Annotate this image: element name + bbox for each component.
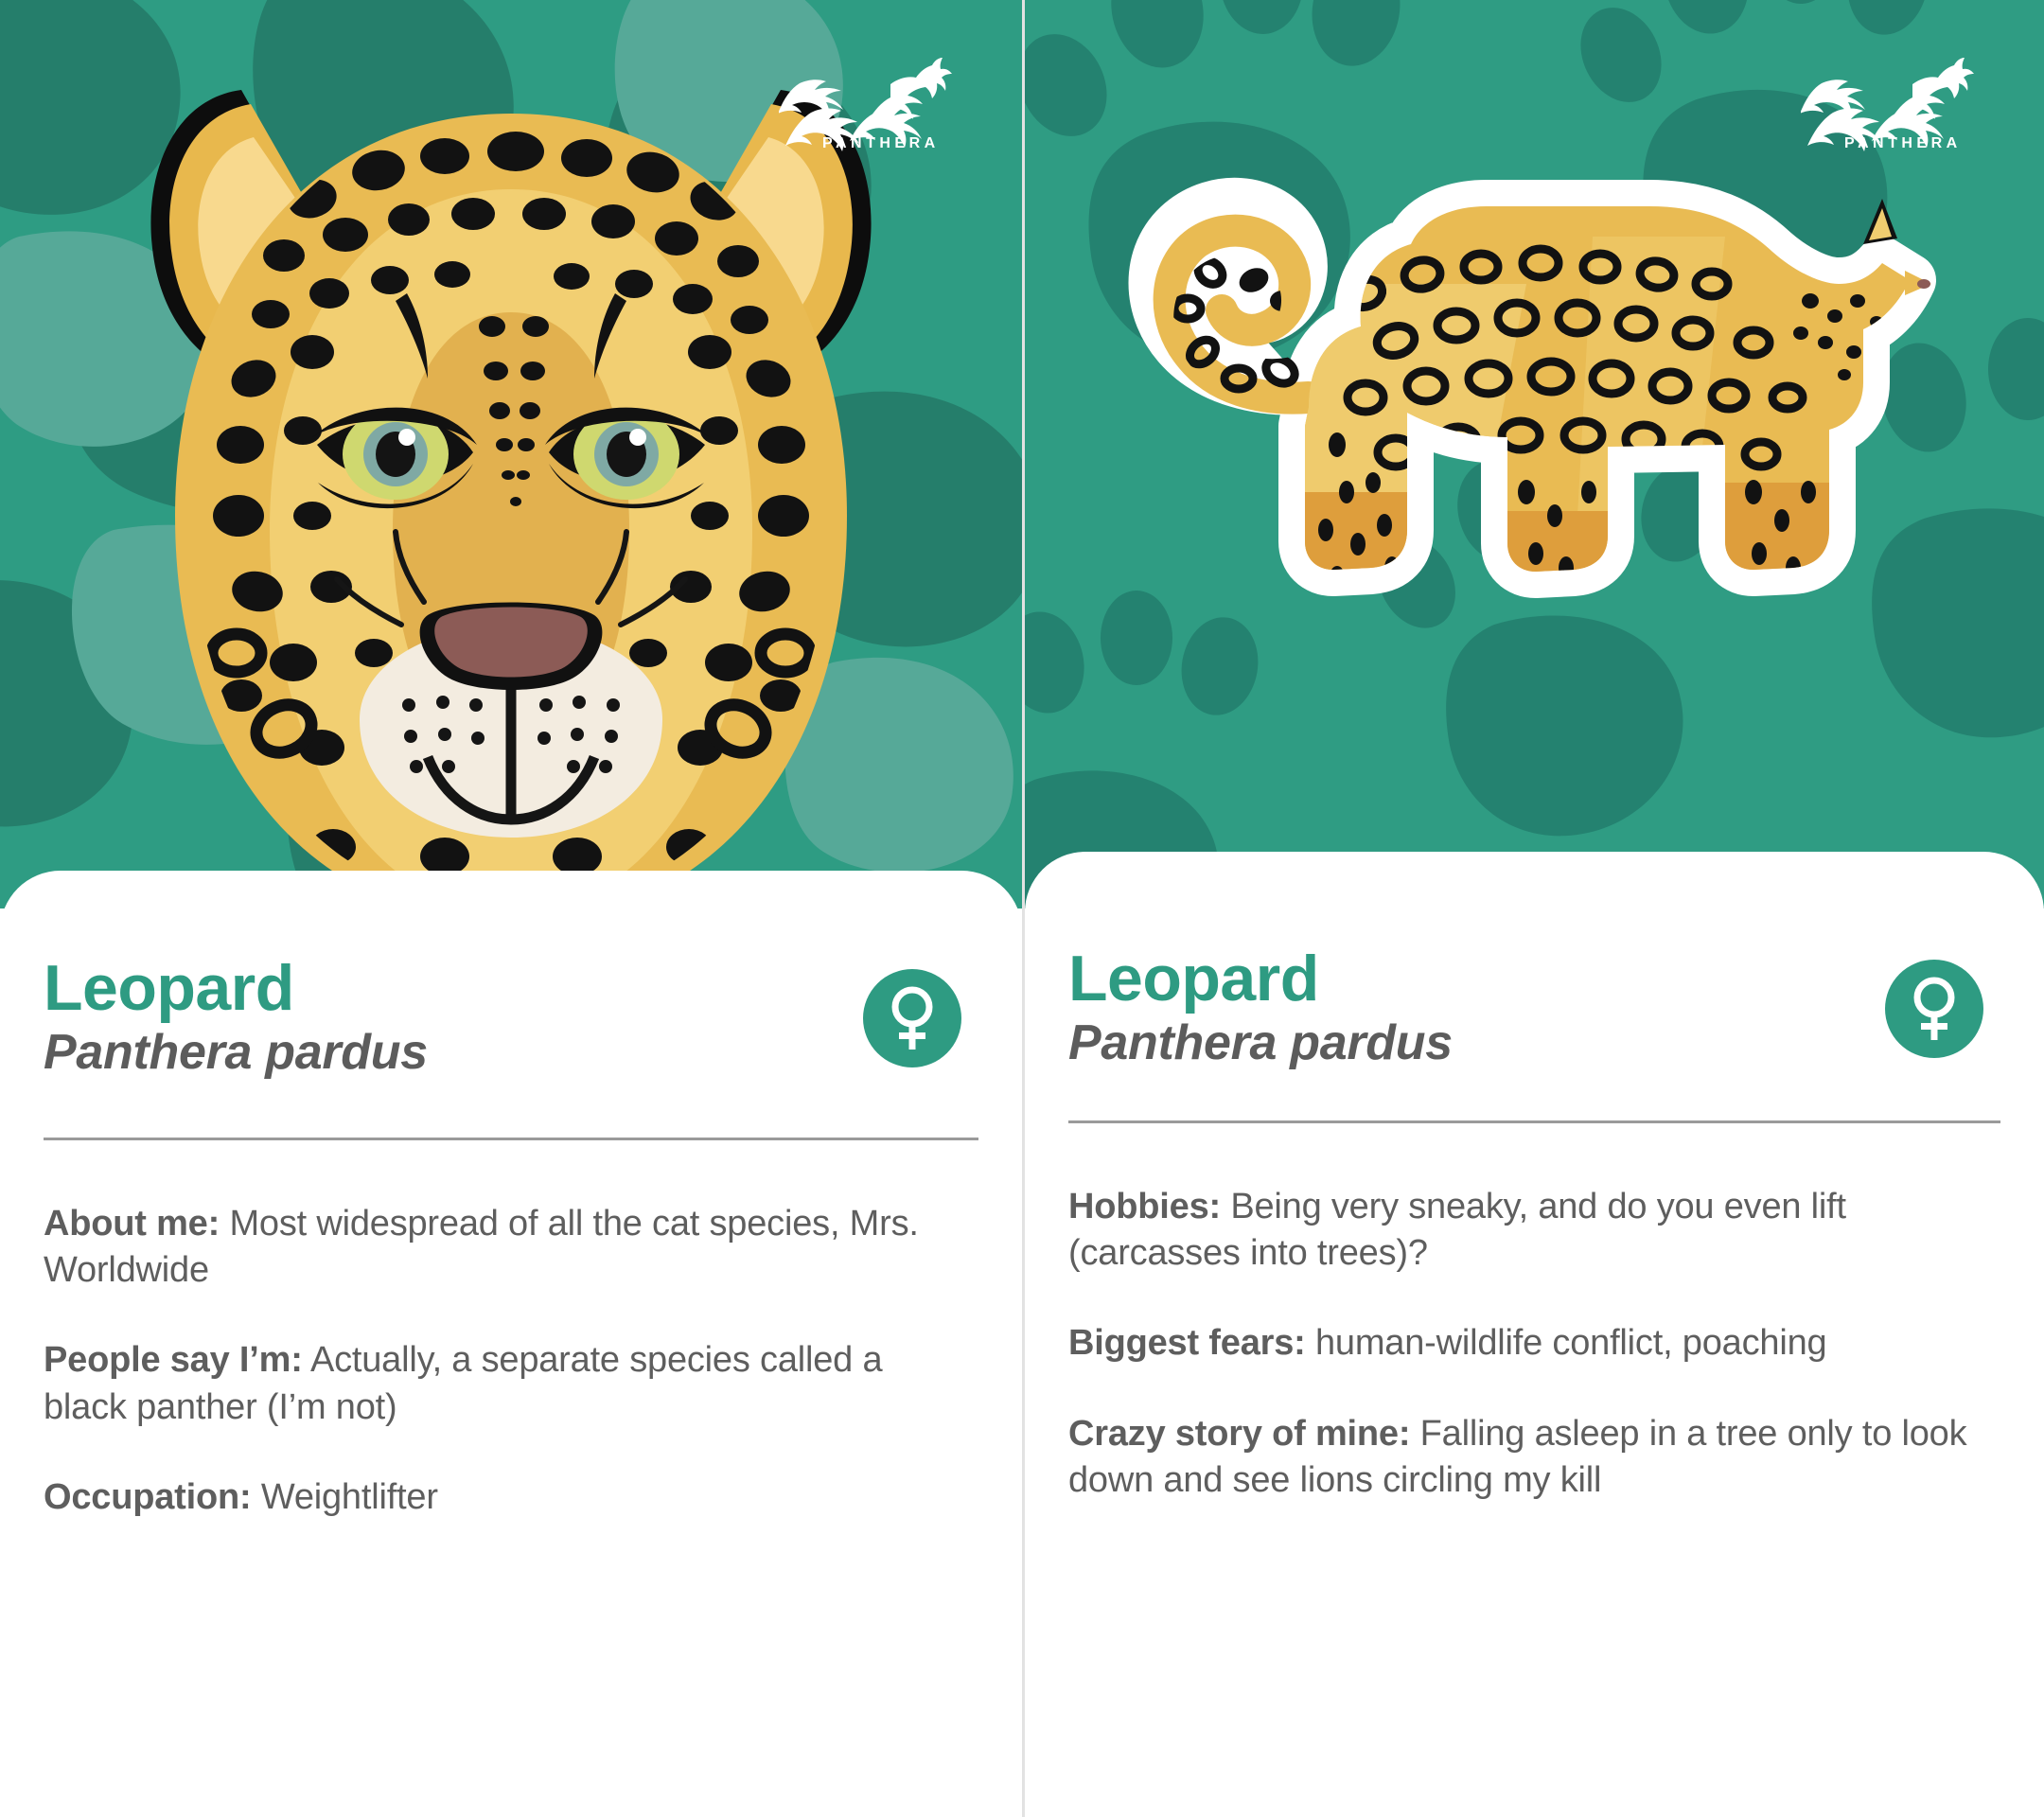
- scientific-name: Panthera pardus: [44, 1025, 428, 1080]
- leopard-profile-cards: PANTHERA Leopard Panthera pardus: [0, 0, 2044, 1817]
- fact-value: Weightlifter: [261, 1477, 438, 1517]
- hero-image-leopard-face: PANTHERA: [0, 0, 1022, 908]
- fact-label: Hobbies:: [1068, 1187, 1221, 1226]
- species-names: Leopard Panthera pardus: [44, 958, 428, 1081]
- female-symbol-icon: [1885, 960, 1983, 1058]
- panthera-wordmark: PANTHERA: [1844, 135, 1962, 151]
- fact-label: People say I’m:: [44, 1340, 303, 1380]
- running-panther-icon: PANTHERA: [779, 52, 982, 151]
- fact-item: Crazy story of mine: Falling asleep in a…: [1068, 1411, 1991, 1505]
- fact-item: Hobbies: Being very sneaky, and do you e…: [1068, 1184, 1991, 1278]
- panthera-wordmark: PANTHERA: [822, 135, 940, 151]
- hero-image-leopard-walking: PANTHERA: [1025, 0, 2044, 908]
- profile-info-panel: Leopard Panthera pardus About me: Most w…: [0, 871, 1022, 1817]
- fact-item: About me: Most widespread of all the cat…: [44, 1201, 966, 1295]
- common-name: Leopard: [1068, 948, 1453, 1010]
- scientific-name: Panthera pardus: [1068, 1015, 1453, 1070]
- fact-label: Crazy story of mine:: [1068, 1414, 1410, 1454]
- fact-value: human-wildlife conflict, poaching: [1315, 1323, 1826, 1363]
- section-divider: [44, 1138, 978, 1140]
- fact-label: Biggest fears:: [1068, 1323, 1306, 1363]
- common-name: Leopard: [44, 958, 428, 1019]
- species-names: Leopard Panthera pardus: [1068, 948, 1453, 1071]
- profile-info-panel: Leopard Panthera pardus Hobbies: Being v…: [1025, 852, 2044, 1817]
- fact-label: Occupation:: [44, 1477, 251, 1517]
- running-panther-icon: PANTHERA: [1801, 52, 2004, 151]
- panthera-logo: PANTHERA: [779, 52, 982, 151]
- profile-card-leopard-face: PANTHERA Leopard Panthera pardus: [0, 0, 1022, 1817]
- fact-item: People say I’m: Actually, a separate spe…: [44, 1337, 966, 1431]
- fact-item: Occupation: Weightlifter: [44, 1474, 966, 1521]
- facts-list: Hobbies: Being very sneaky, and do you e…: [1068, 1184, 2000, 1505]
- section-divider: [1068, 1120, 2000, 1123]
- name-row: Leopard Panthera pardus: [1068, 852, 2000, 1071]
- fact-label: About me:: [44, 1204, 220, 1244]
- profile-card-leopard-body: PANTHERA Leopard Panthera pardus: [1022, 0, 2044, 1817]
- panthera-logo: PANTHERA: [1801, 52, 2004, 151]
- female-symbol-icon: [863, 969, 961, 1067]
- facts-list: About me: Most widespread of all the cat…: [44, 1201, 978, 1522]
- fact-item: Biggest fears: human-wildlife conflict, …: [1068, 1320, 1991, 1367]
- name-row: Leopard Panthera pardus: [44, 871, 978, 1081]
